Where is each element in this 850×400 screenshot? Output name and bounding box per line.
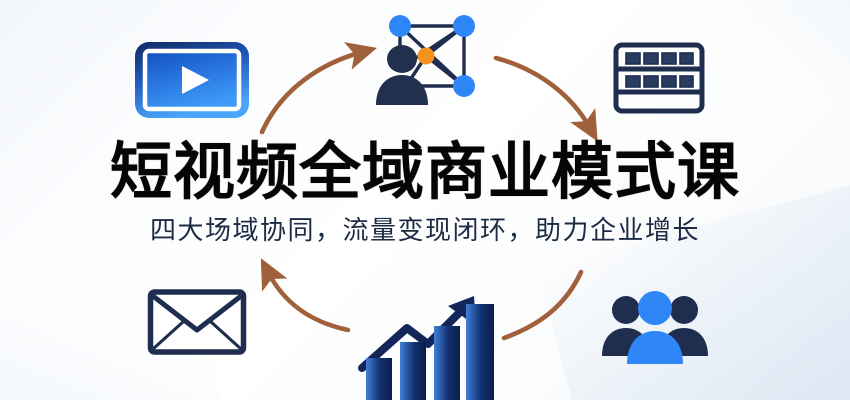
arc-arrow-top-right — [496, 58, 590, 128]
network-nodes-icon-svg — [368, 4, 486, 112]
arc-arrow-bottom-right — [504, 272, 581, 338]
growth-chart-icon-svg — [352, 276, 498, 400]
network-nodes-icon — [368, 4, 486, 112]
video-play-icon-svg — [133, 40, 251, 120]
arc-arrow-bottom-left — [268, 272, 348, 330]
headline-block: 短视频全域商业模式课 四大场域协同，流量变现闭环，助力企业增长 — [0, 138, 850, 247]
user-group-icon — [600, 286, 710, 366]
user-group-icon-svg — [600, 286, 710, 366]
center-node-highlight — [418, 48, 435, 65]
video-play-icon — [133, 40, 251, 120]
course-banner: 短视频全域商业模式课 四大场域协同，流量变现闭环，助力企业增长 — [0, 0, 850, 400]
page-subtitle: 四大场域协同，流量变现闭环，助力企业增长 — [0, 215, 850, 247]
mail-envelope-icon-svg — [147, 288, 247, 356]
growth-chart-icon — [352, 276, 498, 400]
mail-envelope-icon — [147, 288, 247, 356]
shelf-rack-icon-svg — [613, 42, 705, 114]
page-title: 短视频全域商业模式课 — [0, 138, 850, 206]
shelf-rack-icon — [613, 42, 705, 114]
arc-arrow-top-left — [262, 52, 362, 132]
